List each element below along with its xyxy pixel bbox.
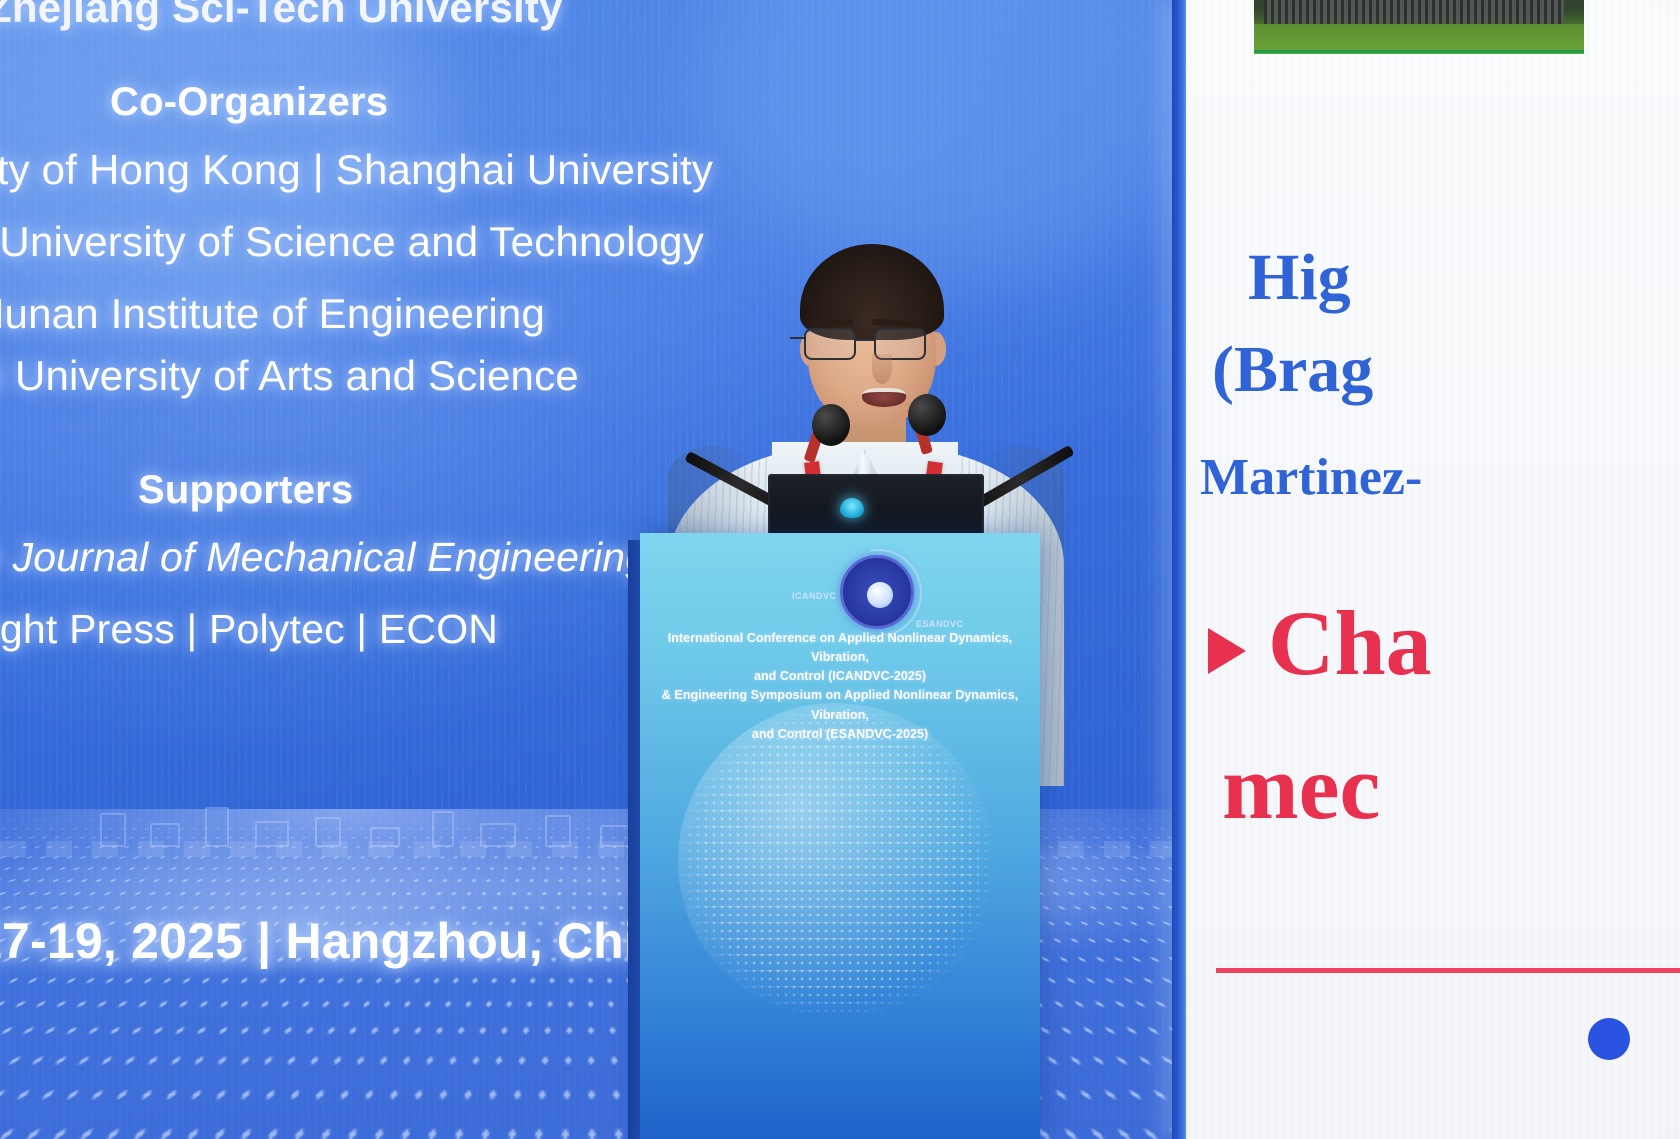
conference-emblem-logo bbox=[840, 555, 914, 629]
microphone-head-right bbox=[908, 394, 946, 436]
slide-photo-underline bbox=[1254, 50, 1584, 53]
slide-photograph bbox=[1254, 0, 1584, 54]
podium-globe-graphic bbox=[678, 703, 994, 1019]
speaker-mouth bbox=[862, 388, 906, 407]
slide-horizontal-rule bbox=[1216, 968, 1680, 973]
podium-title-line-4: and Control (ESANDVC-2025) bbox=[658, 725, 1022, 744]
screen-organizer-line: Zhejiang Sci-Tech University bbox=[0, 0, 563, 32]
eyeglass-temple bbox=[790, 337, 806, 339]
screen-supporter-line-2: ilight Press | Polytec | ECON bbox=[0, 606, 498, 653]
eyeglass-lens-left bbox=[804, 328, 856, 360]
screen-co-organizer-line-3: Hunan Institute of Engineering bbox=[0, 290, 545, 338]
emblem-label-right: ESANDVC bbox=[916, 619, 964, 629]
conference-photo-scene: Zhejiang Sci-Tech University Co-Organize… bbox=[0, 0, 1680, 1139]
podium-title-line-2: and Control (ICANDVC-2025) bbox=[658, 667, 1022, 686]
podium-conference-title: International Conference on Applied Nonl… bbox=[658, 629, 1022, 744]
conference-podium: ICANDVC ESANDVC International Conference… bbox=[640, 533, 1040, 1139]
triangle-bullet-icon bbox=[1208, 628, 1246, 674]
screen-supporters-heading: Supporters bbox=[138, 468, 353, 513]
slide-photo-structure bbox=[1264, 0, 1564, 26]
slide-red-line-2: mec bbox=[1222, 734, 1380, 840]
screen-co-organizer-line-4: ei University of Arts and Science bbox=[0, 352, 579, 400]
screen-date-location: 17-19, 2025 | Hangzhou, Chi bbox=[0, 912, 638, 970]
globe-dot-texture bbox=[678, 703, 994, 1019]
emblem-label-left: ICANDVC bbox=[792, 591, 837, 601]
screen-co-organizers-heading: Co-Organizers bbox=[110, 80, 388, 125]
slide-red-line-1: Cha bbox=[1268, 590, 1432, 696]
screen-icon-row bbox=[40, 783, 660, 847]
alien-head-logo-icon bbox=[840, 498, 864, 524]
screen-co-organizer-line-1: sity of Hong Kong | Shanghai University bbox=[0, 146, 713, 194]
slide-title-line-1: Hig bbox=[1248, 240, 1351, 316]
laptop-lid bbox=[768, 474, 984, 538]
screen-co-organizer-line-2: n University of Science and Technology bbox=[0, 218, 704, 266]
screen-supporter-line-1: e Journal of Mechanical Engineering bbox=[0, 534, 648, 581]
eyeglass-bridge bbox=[856, 339, 876, 341]
podium-title-line-1: International Conference on Applied Nonl… bbox=[658, 629, 1022, 667]
podium-title-line-3: & Engineering Symposium on Applied Nonli… bbox=[658, 686, 1022, 724]
alien-head-shape bbox=[840, 498, 864, 518]
right-projection-screen: Hig (Brag Martinez- Cha mec Kai W low-f bbox=[1186, 0, 1680, 1139]
slide-title-line-3: Martinez- bbox=[1200, 448, 1422, 507]
slide-title-line-2: (Brag bbox=[1212, 332, 1373, 408]
microphone-head-left bbox=[812, 404, 850, 446]
speaker-nose bbox=[872, 354, 892, 384]
circle-bullet-icon bbox=[1588, 1018, 1630, 1060]
